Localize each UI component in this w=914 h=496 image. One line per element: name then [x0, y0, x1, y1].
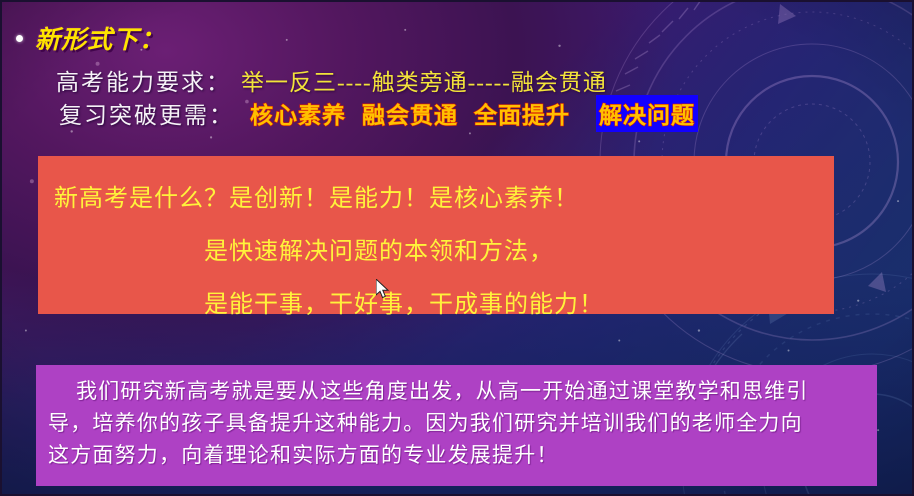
header-title-row: 新形式下：: [16, 20, 165, 56]
accent-core-literacy: 核心素养: [250, 96, 346, 130]
ability-label: 高考能力要求：: [56, 63, 231, 97]
orange-panel-line-2: 是快速解决问题的本领和方法，: [204, 231, 554, 266]
header-ability-row: 高考能力要求： 举一反三----触类旁通-----融会贯通: [16, 63, 607, 97]
purple-panel-line-1: 我们研究新高考就是要从这些角度出发，从高一开始通过课堂教学和思维引: [48, 375, 865, 407]
accent-overall-improvement: 全面提升: [474, 96, 570, 130]
presentation-slide: 新形式下： 高考能力要求： 举一反三----触类旁通-----融会贯通 复习突破…: [0, 0, 914, 496]
orange-content-panel: 新高考是什么？是创新！是能力！是核心素养！ 是快速解决问题的本领和方法， 是能干…: [38, 156, 834, 314]
accent-problem-solving-highlighted: 解决问题: [596, 95, 698, 132]
purple-content-panel: 我们研究新高考就是要从这些角度出发，从高一开始通过课堂教学和思维引 导，培养你的…: [36, 365, 877, 486]
ability-value: 举一反三----触类旁通-----融会贯通: [241, 63, 607, 97]
purple-panel-line-2: 导，培养你的孩子具备提升这种能力。因为我们研究并培训我们的老师全力向: [48, 407, 865, 439]
orange-panel-line-1: 新高考是什么？是创新！是能力！是核心素养！: [54, 178, 579, 213]
bullet-dot-icon: [16, 35, 23, 42]
accent-integration: 融会贯通: [362, 96, 458, 130]
page-title: 新形式下：: [35, 20, 165, 56]
orange-panel-line-3: 是能干事，干好事，干成事的能力！: [204, 284, 604, 319]
review-label: 复习突破更需：: [59, 96, 234, 130]
header-review-row: 复习突破更需： 核心素养 融会贯通 全面提升 解决问题: [59, 95, 698, 132]
purple-panel-line-3: 这方面努力，向着理论和实际方面的专业发展提升！: [48, 439, 865, 471]
